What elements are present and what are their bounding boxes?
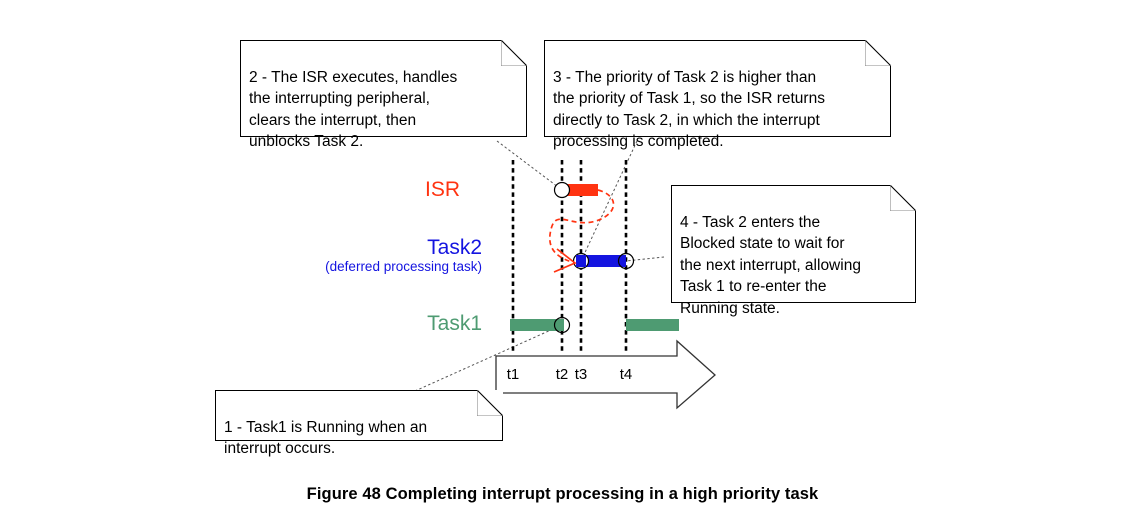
callout-box-2: 2 - The ISR executes, handles the interr… <box>240 40 527 137</box>
track-sublabel-task2: (deferred processing task) <box>250 259 482 274</box>
tick-label-t3: t3 <box>561 366 601 383</box>
task2-entry-fill <box>576 255 586 267</box>
task1-track <box>510 318 679 333</box>
diagram-canvas: ISR Task2 (deferred processing task) Tas… <box>0 0 1125 531</box>
track-label-task1: Task1 <box>330 312 482 336</box>
tick-label-t1: t1 <box>493 366 533 383</box>
return-arrow-head <box>554 249 575 272</box>
isr-track <box>555 183 599 198</box>
page-fold-icon-4 <box>890 185 916 211</box>
page-fold-icon-2 <box>501 40 527 66</box>
figure-caption: Figure 48 Completing interrupt processin… <box>0 485 1125 504</box>
tick-label-t4: t4 <box>606 366 646 383</box>
leader-line-4 <box>626 257 664 261</box>
leader-line-3 <box>581 141 637 261</box>
track-label-task2: Task2 <box>330 236 482 260</box>
task2-track <box>574 254 634 269</box>
page-fold-icon-3 <box>865 40 891 66</box>
task1-running-bar-second <box>626 319 679 331</box>
callout-text-4: 4 - Task 2 enters the Blocked state to w… <box>680 214 861 317</box>
callout-box-1: 1 - Task1 is Running when an interrupt o… <box>215 390 503 441</box>
callout-box-4: 4 - Task 2 enters the Blocked state to w… <box>671 185 916 303</box>
track-label-isr: ISR <box>330 178 460 202</box>
callout-box-3: 3 - The priority of Task 2 is higher tha… <box>544 40 891 137</box>
page-fold-icon-1 <box>477 390 503 416</box>
isr-entry-marker <box>555 183 570 198</box>
